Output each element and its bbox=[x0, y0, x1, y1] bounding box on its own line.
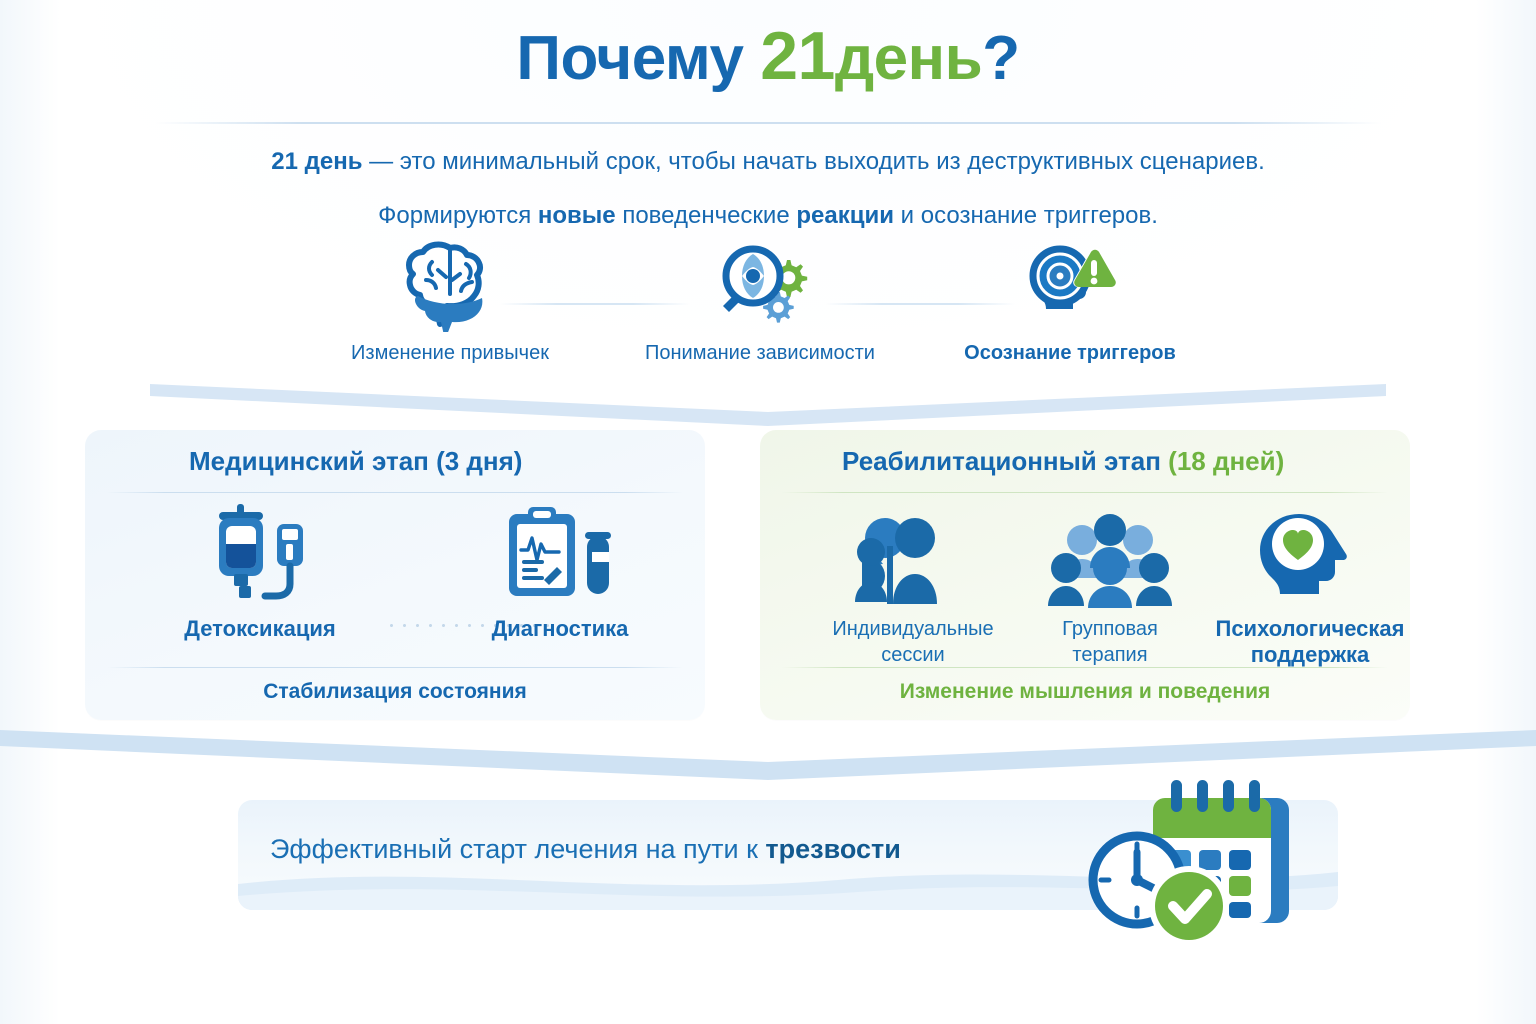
title-divider bbox=[155, 122, 1381, 124]
rehab-item-label-line2: терапия bbox=[1072, 644, 1147, 666]
rehab-card-divider-top bbox=[782, 492, 1388, 493]
title-part-why: Почему bbox=[516, 24, 743, 93]
intro-line-1-rest: — это минимальный срок, чтобы начать вых… bbox=[362, 148, 1264, 175]
result-banner-text-highlight: трезвости bbox=[765, 834, 900, 864]
medical-card-items: Детоксикация bbox=[85, 502, 705, 662]
iv-drip-icon bbox=[145, 502, 375, 610]
top-item-label: Осознание триггеров bbox=[915, 342, 1225, 365]
clipboard-testtube-icon bbox=[445, 502, 675, 610]
rehab-item-label-line2: поддержка bbox=[1251, 642, 1370, 667]
intro-l2-a: Формируются bbox=[378, 202, 538, 229]
intro-lead: 21 день bbox=[271, 148, 362, 175]
top-icon-row: Изменение привычек bbox=[295, 240, 1225, 380]
medical-item-detox: Детоксикация bbox=[145, 502, 375, 642]
rehab-item-label: Групповая терапия bbox=[1015, 616, 1205, 668]
rehab-item-label-line1: Групповая bbox=[1062, 618, 1158, 640]
intro-line-2: Формируются новые поведенческие реакции … bbox=[0, 196, 1536, 236]
intro-l2-reactions: реакции bbox=[796, 202, 894, 229]
rehab-card-footer: Изменение мышления и поведения bbox=[760, 680, 1410, 704]
medical-card-divider-top bbox=[107, 492, 683, 493]
infographic-root: Почему 21день? 21 день — это минимальный… bbox=[0, 0, 1536, 1024]
medical-card-divider-bottom bbox=[107, 667, 683, 668]
rehab-item-label-line1: Индивидуальные bbox=[832, 618, 993, 640]
medical-card-footer: Стабилизация состояния bbox=[85, 680, 705, 704]
title-question-mark: ? bbox=[982, 24, 1019, 93]
top-item-understanding: Понимание зависимости bbox=[605, 240, 915, 365]
rehab-card-items: Индивидуальные сессии bbox=[760, 502, 1410, 662]
medical-card-title: Медицинский этап (3 дня) bbox=[189, 446, 522, 477]
group-people-icon bbox=[1015, 502, 1205, 610]
intro-block: 21 день — это минимальный срок, чтобы на… bbox=[0, 142, 1536, 236]
rehab-item-label: Индивидуальные сессии bbox=[808, 616, 1018, 668]
medical-item-label: Диагностика bbox=[445, 616, 675, 642]
intro-l2-c: поведенческие bbox=[616, 202, 797, 229]
calendar-clock-check-icon bbox=[1075, 768, 1325, 958]
result-banner-text-a: Эффективный старт лечения на пути к bbox=[270, 834, 765, 864]
intro-l2-e: и осознание триггеров. bbox=[894, 202, 1158, 229]
intro-l2-new: новые bbox=[538, 202, 616, 229]
medical-item-diagnostics: Диагностика bbox=[445, 502, 675, 642]
title-part-day: день bbox=[835, 24, 982, 93]
top-item-label: Понимание зависимости bbox=[605, 342, 915, 365]
head-heart-icon bbox=[1200, 502, 1410, 610]
rehab-card-divider-bottom bbox=[782, 667, 1388, 668]
result-banner-text: Эффективный старт лечения на пути к трез… bbox=[270, 834, 901, 865]
rehab-item-psychological: Психологическая поддержка bbox=[1200, 502, 1410, 668]
top-item-triggers: Осознание триггеров bbox=[915, 240, 1225, 365]
rehab-item-individual: Индивидуальные сессии bbox=[808, 502, 1018, 668]
rehab-item-label-line1: Психологическая bbox=[1216, 616, 1405, 641]
title-number: 21 bbox=[760, 18, 835, 94]
rehab-card-title: Реабилитационный этап (18 дней) bbox=[842, 446, 1284, 477]
brain-icon bbox=[295, 240, 605, 332]
rehab-title-duration: (18 дней) bbox=[1168, 446, 1284, 476]
rehab-item-label: Психологическая поддержка bbox=[1200, 616, 1410, 668]
top-item-habits: Изменение привычек bbox=[295, 240, 605, 365]
rehab-stage-card: Реабилитационный этап (18 дней) bbox=[760, 430, 1410, 720]
two-people-talking-icon bbox=[808, 502, 1018, 610]
medical-stage-card: Медицинский этап (3 дня) bbox=[85, 430, 705, 720]
rehab-title-main: Реабилитационный этап bbox=[842, 446, 1168, 476]
top-item-label: Изменение привычек bbox=[295, 342, 605, 365]
head-target-warning-icon bbox=[915, 240, 1225, 332]
magnifier-gears-icon bbox=[605, 240, 915, 332]
page-title: Почему 21день? bbox=[0, 22, 1536, 90]
rehab-item-label-line2: сессии bbox=[881, 644, 944, 666]
intro-line-1: 21 день — это минимальный срок, чтобы на… bbox=[0, 142, 1536, 182]
medical-item-label: Детоксикация bbox=[145, 616, 375, 642]
rehab-item-group: Групповая терапия bbox=[1015, 502, 1205, 668]
